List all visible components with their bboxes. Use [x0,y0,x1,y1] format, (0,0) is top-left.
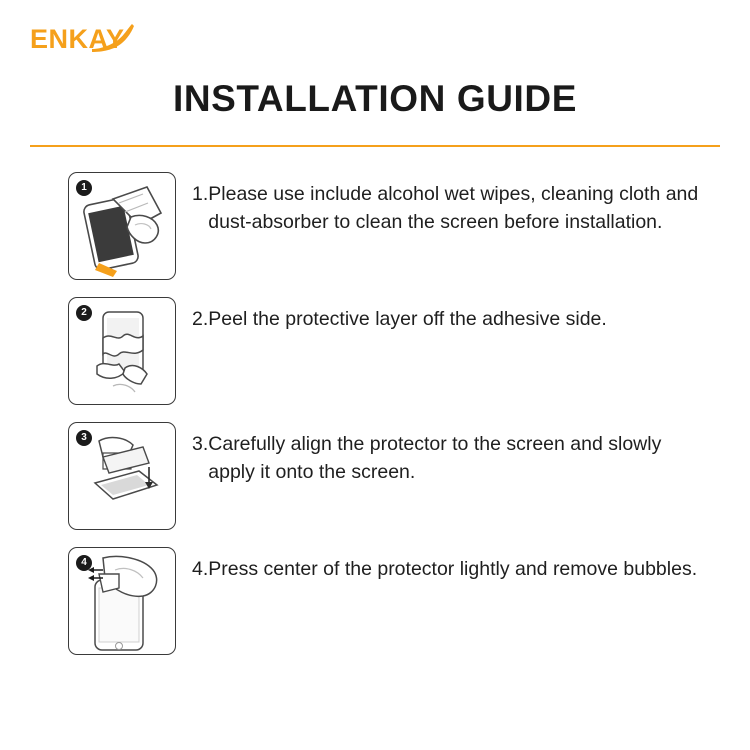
list-item: 4 4. Press center of the protector lig [0,547,750,655]
step-text-4: 4. Press center of the protector lightly… [192,547,697,583]
step-number-1: 1. [192,180,208,236]
step-illustration-4: 4 [68,547,176,655]
step-number-4: 4. [192,555,208,583]
step-body-3: Carefully align the protector to the scr… [208,430,700,486]
step-body-4: Press center of the protector lightly an… [208,555,697,583]
swoosh-icon [90,22,136,52]
steps-list: 1 1. Please use include alcohol wet wipe… [0,172,750,672]
step-text-1: 1. Please use include alcohol wet wipes,… [192,172,700,236]
step-number-3: 3. [192,430,208,486]
step-illustration-2: 2 [68,297,176,405]
step-illustration-1: 1 [68,172,176,280]
step-body-1: Please use include alcohol wet wipes, cl… [208,180,700,236]
list-item: 2 2. Peel the protective layer off the a… [0,297,750,405]
step-badge-4: 4 [76,555,92,571]
step-body-2: Peel the protective layer off the adhesi… [208,305,607,333]
step-text-2: 2. Peel the protective layer off the adh… [192,297,607,333]
title-divider [30,145,720,147]
step-illustration-3: 3 [68,422,176,530]
list-item: 1 1. Please use include alcohol wet wipe… [0,172,750,280]
step-badge-1: 1 [76,180,92,196]
page-title: INSTALLATION GUIDE [0,78,750,120]
step-number-2: 2. [192,305,208,333]
list-item: 3 3. Carefully align the protector to th… [0,422,750,530]
step-text-3: 3. Carefully align the protector to the … [192,422,700,486]
step-badge-2: 2 [76,305,92,321]
step-badge-3: 3 [76,430,92,446]
